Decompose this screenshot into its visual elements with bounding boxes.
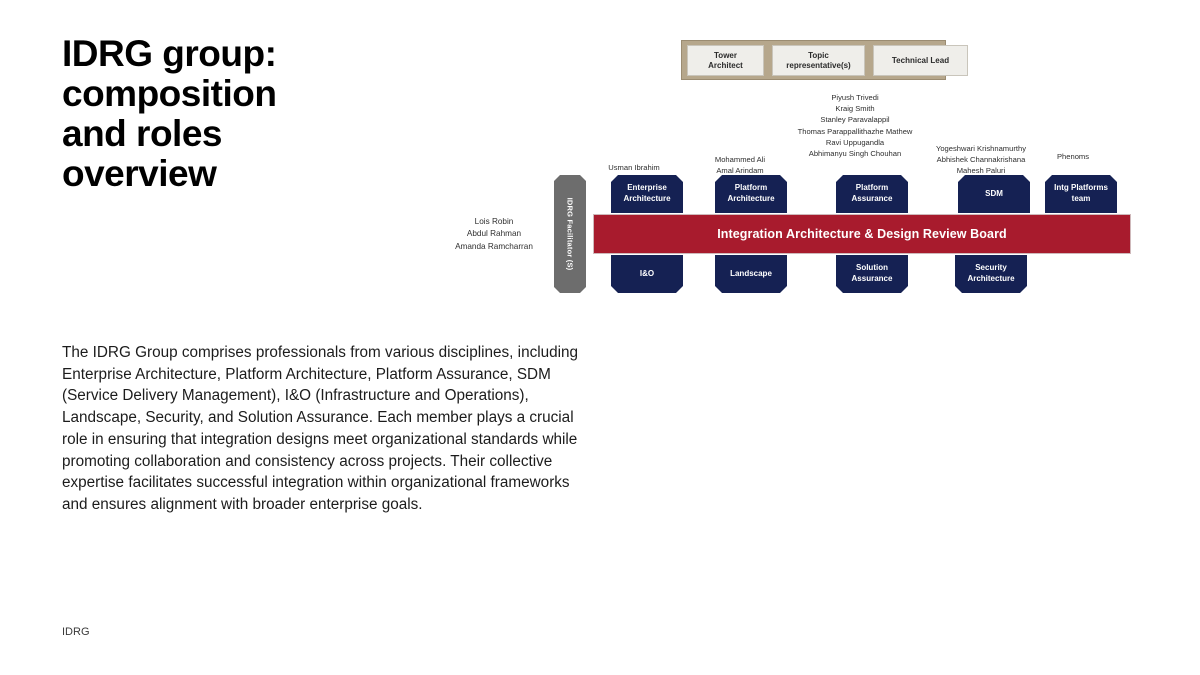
role-box-topic-representative[interactable]: Topic representative(s) (772, 45, 865, 76)
node-security-architecture[interactable]: Security Architecture (955, 255, 1027, 293)
facilitator-names: Lois Robin Abdul Rahman Amanda Ramcharra… (438, 216, 550, 253)
page-title: IDRG group: composition and roles overvi… (62, 34, 482, 194)
node-names-intg-platforms-team: Phenoms (1038, 151, 1108, 162)
node-solution-assurance[interactable]: Solution Assurance (836, 255, 908, 293)
facilitator-bar[interactable]: IDRG Facilitator (S) (554, 175, 586, 293)
node-names-sdm: Yogeshwari Krishnamurthy Abhishek Channa… (916, 143, 1046, 177)
node-names-enterprise-architecture: Usman Ibrahim (589, 162, 679, 173)
role-box-tower-architect[interactable]: Tower Architect (687, 45, 764, 76)
idrg-structure-diagram: Tower Architect Topic representative(s) … (450, 20, 1150, 320)
node-enterprise-architecture[interactable]: Enterprise Architecture (611, 175, 683, 213)
node-intg-platforms-team[interactable]: Intg Platforms team (1045, 175, 1117, 213)
node-sdm[interactable]: SDM (958, 175, 1030, 213)
node-landscape[interactable]: Landscape (715, 255, 787, 293)
node-io[interactable]: I&O (611, 255, 683, 293)
role-box-technical-lead[interactable]: Technical Lead (873, 45, 968, 76)
body-paragraph: The IDRG Group comprises professionals f… (62, 342, 582, 516)
node-platform-architecture[interactable]: Platform Architecture (715, 175, 787, 213)
facilitator-bar-label: IDRG Facilitator (S) (566, 198, 575, 271)
footer-label: IDRG (62, 626, 90, 638)
review-board-banner[interactable]: Integration Architecture & Design Review… (593, 214, 1131, 254)
roles-band: Tower Architect Topic representative(s) … (681, 40, 946, 80)
node-platform-assurance[interactable]: Platform Assurance (836, 175, 908, 213)
